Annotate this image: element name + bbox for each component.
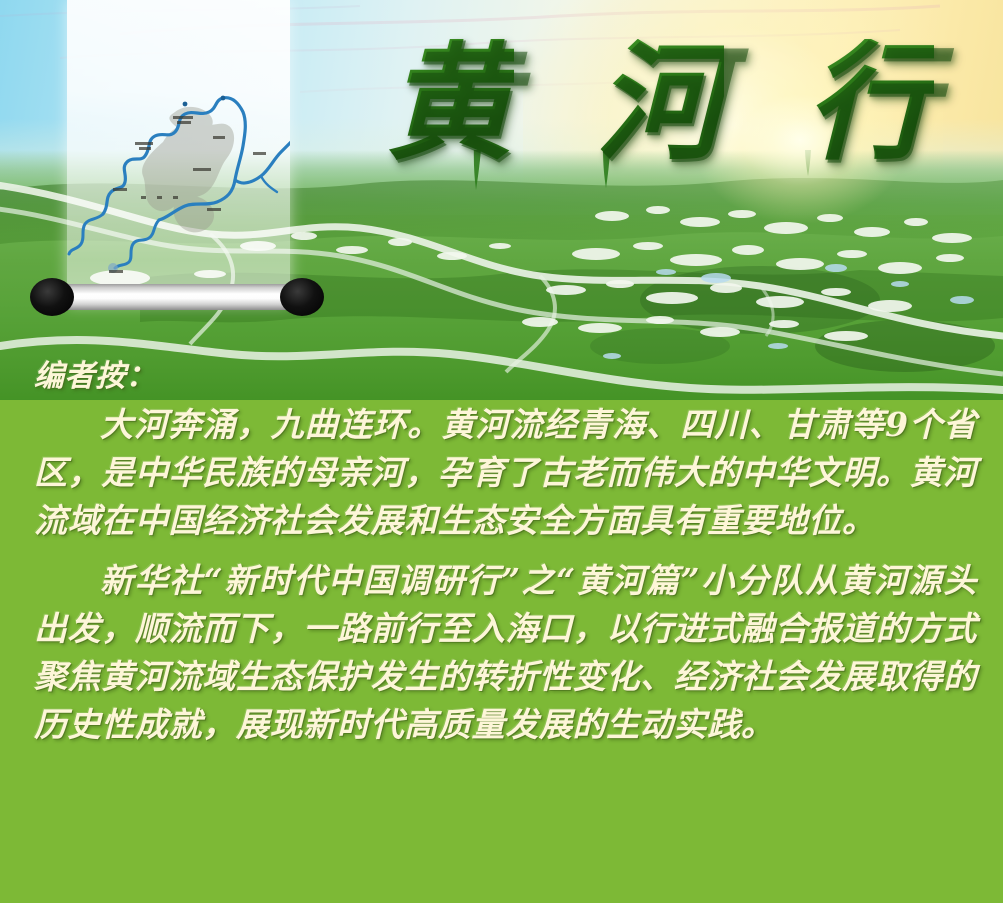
hero-photo: 黄 河 行 bbox=[0, 0, 1003, 400]
poster-root: 黄 河 行 编者按： 大河奔涌，九曲连环。黄河流经青海、四川、甘肃等9个省区，是… bbox=[0, 0, 1003, 903]
title-char-3: 行 bbox=[806, 39, 934, 167]
editors-note-heading: 编者按： bbox=[34, 355, 977, 399]
scroll-knob-left bbox=[30, 278, 74, 316]
yellow-river-basin-map[interactable] bbox=[67, 0, 290, 305]
scroll-knob-right bbox=[280, 278, 324, 316]
editors-note: 编者按： 大河奔涌，九曲连环。黄河流经青海、四川、甘肃等9个省区，是中华民族的母… bbox=[0, 355, 1003, 903]
map-scroll[interactable] bbox=[34, 0, 334, 330]
title-char-2: 河 bbox=[596, 39, 724, 167]
editors-note-paragraph-2: 新华社“新时代中国调研行”之“黄河篇”小分队从黄河源头出发，顺流而下，一路前行至… bbox=[34, 557, 977, 749]
title-calligraphy: 黄 河 行 bbox=[380, 18, 940, 188]
scroll-rod bbox=[62, 284, 300, 310]
poster-title: 黄 河 行 bbox=[380, 18, 940, 188]
editors-note-paragraph-1: 大河奔涌，九曲连环。黄河流经青海、四川、甘肃等9个省区，是中华民族的母亲河，孕育… bbox=[34, 401, 977, 545]
title-char-1: 黄 bbox=[386, 39, 514, 167]
